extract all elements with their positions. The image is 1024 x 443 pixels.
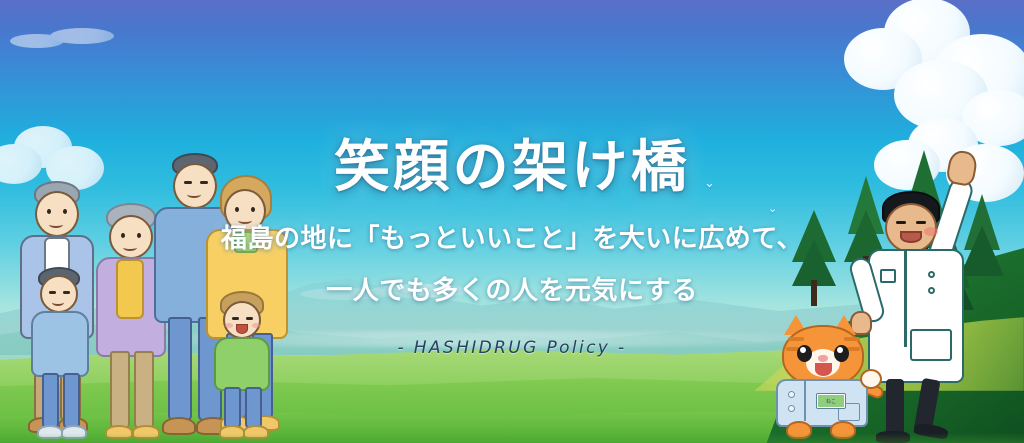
cat-paw-raised (860, 369, 882, 389)
head (35, 191, 79, 237)
cat-coat-button-2 (788, 405, 795, 412)
cat-coat-button-1 (788, 391, 795, 398)
left-leg (886, 379, 904, 437)
coat-emblem-icon (880, 269, 896, 283)
family-member-girl (208, 291, 278, 443)
right-shoe (913, 422, 949, 440)
hero-banner: ねこ ⌄ ⌄ ⌄ ⌄ 笑顔の架け橋 福島の地に「もっといいこと」を大いに広めて、… (0, 0, 1024, 443)
coat-button-lower (928, 287, 935, 294)
cat-eye-shine-left (800, 347, 806, 353)
coat-pocket (910, 329, 952, 361)
cat-stripe-3 (844, 337, 860, 341)
head (109, 215, 153, 259)
cat-mouth (815, 363, 832, 376)
cat-stripe-1 (788, 337, 804, 341)
cat-foot-left (786, 421, 812, 439)
torso (214, 337, 270, 391)
head (40, 275, 78, 313)
cat-name-badge: ねこ (816, 393, 846, 409)
torso (31, 311, 89, 377)
cat-mascot: ねこ (776, 309, 884, 441)
cat-coat-lapel (804, 381, 806, 421)
family-member-boy (26, 267, 94, 443)
head (224, 189, 266, 233)
raised-hand (945, 149, 978, 187)
cat-foot-right (830, 421, 856, 439)
coat-lapel (904, 251, 907, 347)
cartoon-family-illustration (0, 143, 300, 443)
cat-nose (818, 355, 828, 362)
cat-eye-shine-right (837, 347, 843, 353)
cat-name-badge-label: ねこ (826, 398, 836, 405)
coat-button-upper (928, 271, 935, 278)
